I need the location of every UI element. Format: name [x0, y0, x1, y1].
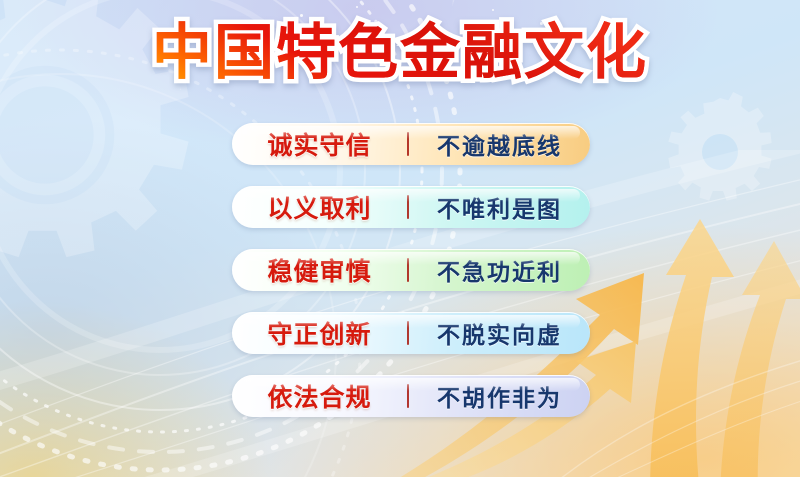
- page-title-gradient-overlay: 中国特色金融文化: [152, 18, 648, 89]
- principle-name: 依法合规: [232, 378, 407, 414]
- page-title: 中国特色金融文化中国特色金融文化: [152, 18, 648, 89]
- sparkle-dot-icon: [356, 6, 358, 8]
- principle-detail: 不胡作非为: [409, 379, 590, 413]
- row-divider: [407, 321, 409, 345]
- sparkle-dot-icon: [492, 9, 494, 11]
- principle-name: 稳健审慎: [232, 252, 407, 288]
- poster-canvas: 中国特色金融文化中国特色金融文化 诚实守信 不逾越底线 以义取利 不唯利是图 稳…: [0, 0, 800, 477]
- gear-icon: [660, 92, 780, 212]
- row-divider: [407, 384, 409, 408]
- principle-name: 守正创新: [232, 315, 407, 351]
- list-item[interactable]: 诚实守信 不逾越底线: [232, 123, 590, 165]
- principle-detail: 不脱实向虚: [409, 316, 590, 350]
- principle-name: 以义取利: [232, 189, 407, 225]
- list-item[interactable]: 以义取利 不唯利是图: [232, 186, 590, 228]
- principle-detail: 不急功近利: [409, 253, 590, 287]
- row-divider: [407, 195, 409, 219]
- principle-detail: 不逾越底线: [409, 127, 590, 161]
- list-item[interactable]: 守正创新 不脱实向虚: [232, 312, 590, 354]
- list-item[interactable]: 依法合规 不胡作非为: [232, 375, 590, 417]
- row-divider: [407, 132, 409, 156]
- row-divider: [407, 258, 409, 282]
- principle-list: 诚实守信 不逾越底线 以义取利 不唯利是图 稳健审慎 不急功近利 守正创新 不脱…: [232, 123, 590, 417]
- poster-title-area: 中国特色金融文化中国特色金融文化: [0, 18, 800, 89]
- sparkle-dot-icon: [300, 14, 303, 17]
- principle-detail: 不唯利是图: [409, 190, 590, 224]
- list-item[interactable]: 稳健审慎 不急功近利: [232, 249, 590, 291]
- principle-name: 诚实守信: [232, 126, 407, 162]
